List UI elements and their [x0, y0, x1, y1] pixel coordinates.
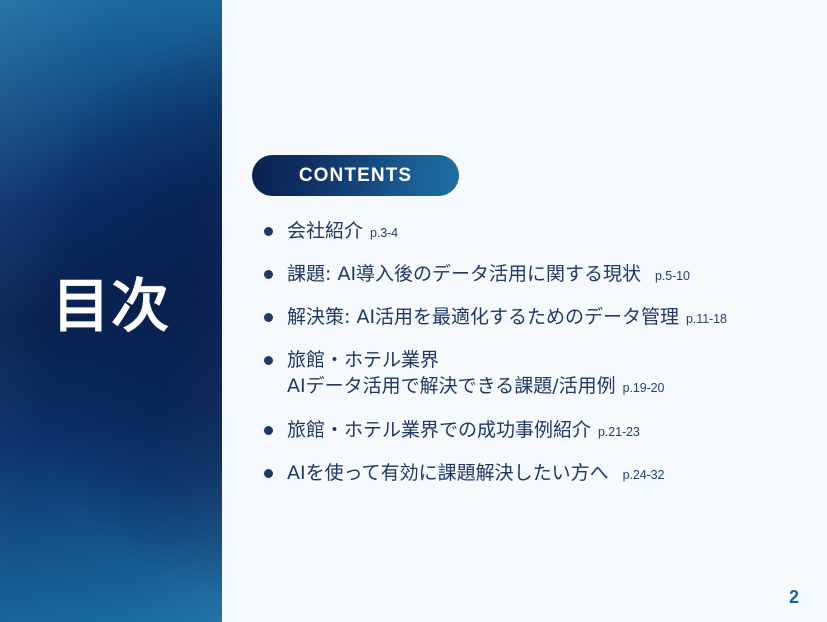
list-item-label-secondary: AIデータ活用で解決できる課題/活用例	[287, 375, 616, 397]
list-item-label: AIを使って有効に課題解決したい方へ	[287, 462, 609, 484]
list-item-label: 解決策: AI活用を最適化するためのデータ管理	[287, 306, 679, 328]
list-item-line: 課題: AI導入後のデータ活用に関する現状p.5-10	[287, 261, 807, 289]
list-item-pages: p.11-18	[686, 312, 727, 326]
list-item-label: 会社紹介	[287, 220, 363, 242]
list-item-pages: p.5-10	[655, 269, 690, 283]
bullet-icon	[264, 469, 273, 478]
bullet-icon	[264, 227, 273, 236]
contents-badge-label: CONTENTS	[299, 165, 412, 187]
list-item-line: AIを使って有効に課題解決したい方へp.24-32	[287, 460, 807, 488]
list-item-pages: p.24-32	[623, 468, 665, 482]
list-item-label: 旅館・ホテル業界での成功事例紹介	[287, 419, 591, 441]
list-item[interactable]: 課題: AI導入後のデータ活用に関する現状p.5-10	[262, 261, 807, 289]
page-number: 2	[789, 587, 799, 608]
list-item-label: 課題: AI導入後のデータ活用に関する現状	[287, 263, 641, 285]
list-item-line: 旅館・ホテル業界での成功事例紹介p.21-23	[287, 417, 807, 445]
bullet-icon	[264, 356, 273, 365]
list-item-line-secondary: AIデータ活用で解決できる課題/活用例p.19-20	[287, 373, 807, 401]
list-item[interactable]: 会社紹介p.3-4	[262, 218, 807, 246]
bullet-icon	[264, 270, 273, 279]
bullet-icon	[264, 426, 273, 435]
left-gradient-panel: 目次	[0, 0, 222, 622]
list-item-pages: p.3-4	[370, 226, 398, 240]
list-item-pages: p.21-23	[598, 425, 640, 439]
page-title: 目次	[0, 273, 222, 339]
table-of-contents-list: 会社紹介p.3-4 課題: AI導入後のデータ活用に関する現状p.5-10 解決…	[262, 218, 807, 503]
list-item[interactable]: 旅館・ホテル業界 AIデータ活用で解決できる課題/活用例p.19-20	[262, 347, 807, 401]
slide-root: 目次 CONTENTS 会社紹介p.3-4 課題: AI導入後のデータ活用に関す…	[0, 0, 827, 622]
list-item[interactable]: AIを使って有効に課題解決したい方へp.24-32	[262, 460, 807, 488]
bullet-icon	[264, 313, 273, 322]
contents-badge: CONTENTS	[252, 155, 459, 196]
list-item-label: 旅館・ホテル業界	[287, 349, 439, 371]
list-item-line: 会社紹介p.3-4	[287, 218, 807, 246]
list-item[interactable]: 解決策: AI活用を最適化するためのデータ管理p.11-18	[262, 304, 807, 332]
list-item[interactable]: 旅館・ホテル業界での成功事例紹介p.21-23	[262, 417, 807, 445]
list-item-line: 解決策: AI活用を最適化するためのデータ管理p.11-18	[287, 304, 807, 332]
list-item-line: 旅館・ホテル業界	[287, 347, 807, 373]
list-item-pages: p.19-20	[623, 381, 665, 395]
